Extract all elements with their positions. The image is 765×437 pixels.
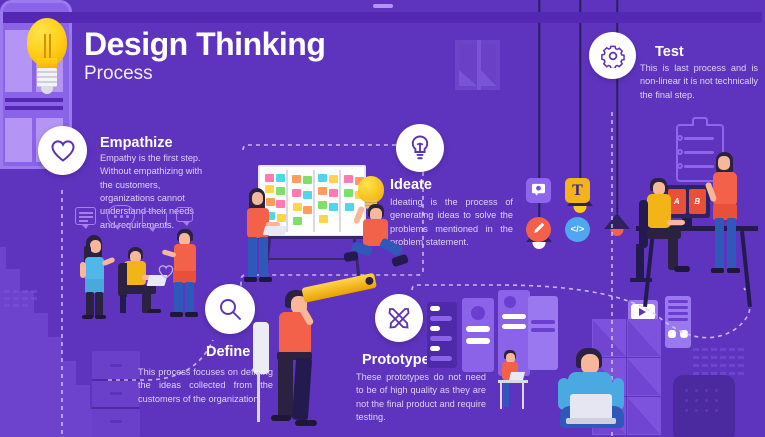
- app-icon-text[interactable]: T: [565, 178, 590, 203]
- filing-cabinet-decoration: [92, 351, 140, 437]
- wireframe-panel-mid: [528, 296, 558, 370]
- chair-behind-person: [253, 322, 269, 374]
- lightbulb-logo-icon: [24, 18, 70, 96]
- wireframe-list-row-4: [668, 318, 688, 321]
- sticky-note: [293, 203, 302, 211]
- step-icon-test[interactable]: [589, 32, 636, 79]
- infographic-poster: Design Thinking Process Empathize Empath…: [0, 0, 765, 437]
- wireframe-list-row-3: [668, 312, 688, 315]
- proto-screen-left-row-6: [430, 356, 452, 361]
- sticky-note: [292, 189, 301, 197]
- heart-icon: [51, 140, 75, 162]
- proto-screen-left-row-4: [430, 336, 452, 341]
- image-icon: [531, 183, 546, 199]
- person-man-right: [168, 229, 204, 317]
- step-body-prototype: These prototypes do not need to be of hi…: [356, 371, 486, 424]
- step-body-test: This is last process and is non-linear i…: [640, 62, 758, 102]
- wireframe-bar-b: [531, 328, 555, 332]
- step-icon-prototype[interactable]: [375, 294, 423, 342]
- speech-bubble-dots: [107, 205, 135, 226]
- wireframe-list-row-1: [668, 300, 688, 303]
- speech-bubble-lines: [75, 207, 96, 225]
- sticky-note: [292, 175, 301, 183]
- poster-header: Design Thinking Process: [24, 18, 325, 96]
- pencil-ruler-icon: [387, 306, 411, 330]
- wireframe-bar-a: [531, 320, 555, 324]
- sticky-note: [265, 174, 274, 182]
- step-title-empathize: Empathize: [100, 135, 173, 151]
- proto-line-2: [466, 338, 490, 344]
- proto-avatar-circle: [471, 306, 485, 320]
- sticky-note: [318, 174, 327, 182]
- chair-leg: [257, 372, 260, 422]
- page-title: Design Thinking: [84, 28, 325, 62]
- proto-line-1: [466, 326, 490, 332]
- person-laptop-floor: [556, 348, 630, 437]
- wireframe-line-2: [502, 324, 526, 329]
- wireframe-circle-avatar: [504, 296, 516, 308]
- text-icon: T: [572, 182, 583, 200]
- step-icon-ideate[interactable]: [396, 124, 444, 172]
- speech-bubble-small: [176, 207, 193, 222]
- wireframe-list-row-2: [668, 306, 688, 309]
- step-icon-empathize[interactable]: [38, 126, 87, 175]
- sticky-note: [303, 176, 312, 184]
- sticky-note: [318, 201, 327, 209]
- wireframe-line-1: [502, 314, 526, 319]
- sticky-note: [303, 191, 312, 199]
- sticky-note: [276, 174, 285, 182]
- illustration-empathize: [72, 205, 202, 317]
- proto-screen-left-row-2: [430, 316, 452, 321]
- person-woman-left: [80, 235, 118, 317]
- pen-icon: [532, 221, 546, 238]
- sticky-note: [329, 175, 338, 183]
- step-title-test: Test: [655, 44, 684, 60]
- proto-screen-left-row-3: [430, 326, 440, 331]
- person-tester-seated: [636, 170, 690, 298]
- person-woman-presenter: [240, 188, 282, 284]
- app-icon-code[interactable]: </>: [565, 217, 590, 242]
- person-tester-standing: [706, 152, 746, 302]
- texture-dots-left: [4, 290, 48, 314]
- app-icon-pen[interactable]: [526, 217, 551, 242]
- wireframe-list-btn-1: [668, 330, 676, 338]
- magnifier-icon: [218, 297, 242, 321]
- code-icon: </>: [571, 224, 585, 235]
- person-man-with-bulb: [344, 176, 410, 284]
- sticky-note: [293, 217, 302, 225]
- sticky-note: [318, 187, 327, 195]
- step-title-prototype: Prototype: [362, 352, 430, 368]
- app-icon-image[interactable]: [526, 178, 551, 203]
- step-title-define: Define: [206, 344, 250, 360]
- proto-screen-left-row-5: [430, 346, 440, 351]
- person-small-desk: [498, 350, 528, 410]
- armchair-decoration: [673, 375, 735, 437]
- sticky-note: [329, 189, 338, 197]
- wireframe-list-btn-2: [680, 330, 688, 338]
- gear-icon: [601, 44, 625, 68]
- step-icon-define[interactable]: [205, 284, 255, 334]
- lightbulb-icon: [410, 135, 430, 161]
- play-icon: [639, 308, 646, 316]
- variant-b-label: B: [689, 189, 707, 214]
- speech-bubble-plain: [142, 211, 167, 228]
- proto-screen-left-row-1: [430, 306, 440, 311]
- sticky-note: [303, 206, 312, 214]
- window-decoration: [455, 40, 500, 90]
- wireframe-list-panel: [665, 296, 691, 348]
- sticky-note: [319, 215, 328, 223]
- page-subtitle: Process: [84, 63, 325, 86]
- sticky-note: [329, 203, 338, 211]
